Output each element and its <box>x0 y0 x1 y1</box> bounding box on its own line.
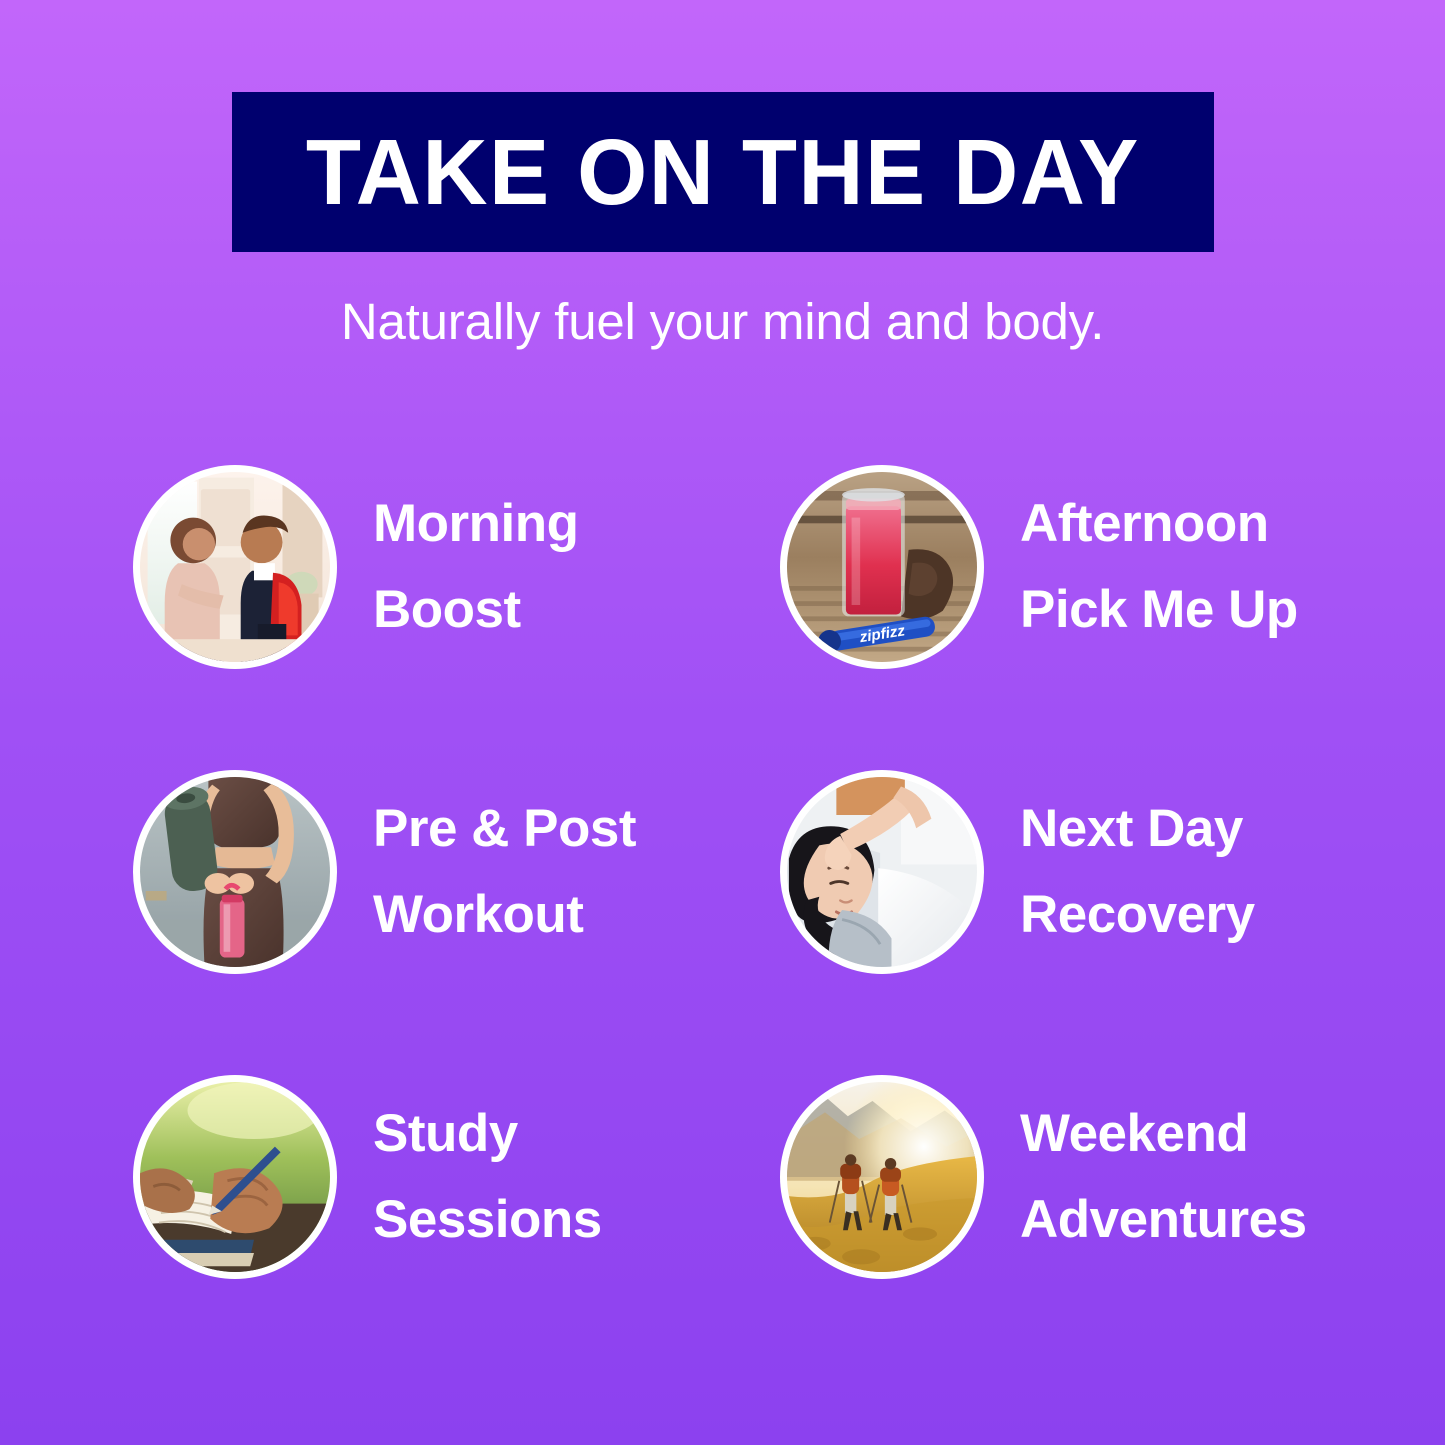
occasion-label: Afternoon Pick Me Up <box>1020 481 1298 653</box>
occasion-thumbnail <box>133 1075 337 1279</box>
pre-post-workout-photo <box>140 777 330 967</box>
occasion-thumbnail <box>133 770 337 974</box>
next-day-recovery-photo <box>787 777 977 967</box>
occasions-row: Pre & Post Workout <box>0 767 1445 1072</box>
occasion-thumbnail <box>133 465 337 669</box>
subtitle: Naturally fuel your mind and body. <box>0 294 1445 350</box>
occasion-item-pre-post-workout[interactable]: Pre & Post Workout <box>0 767 640 977</box>
occasion-thumbnail: zipfizz <box>780 465 984 669</box>
occasion-item-morning-boost[interactable]: Morning Boost <box>0 462 640 672</box>
occasion-thumbnail <box>780 770 984 974</box>
occasion-label: Pre & Post Workout <box>373 786 636 958</box>
afternoon-pick-me-up-photo: zipfizz <box>787 472 977 662</box>
page-title: TAKE ON THE DAY <box>306 126 1140 219</box>
occasions-grid: Morning Boost <box>0 462 1445 1377</box>
occasion-item-study-sessions[interactable]: Study Sessions <box>0 1072 640 1282</box>
occasion-label: Weekend Adventures <box>1020 1091 1307 1263</box>
weekend-adventures-photo <box>787 1082 977 1272</box>
occasions-row: Study Sessions <box>0 1072 1445 1377</box>
occasion-item-afternoon-pick-me-up[interactable]: zipfizz Afternoon Pick Me Up <box>640 462 1445 672</box>
headline-banner: TAKE ON THE DAY <box>232 92 1214 252</box>
occasions-row: Morning Boost <box>0 462 1445 767</box>
study-sessions-photo <box>140 1082 330 1272</box>
occasion-label: Morning Boost <box>373 481 579 653</box>
occasion-label: Next Day Recovery <box>1020 786 1255 958</box>
occasion-item-weekend-adventures[interactable]: Weekend Adventures <box>640 1072 1445 1282</box>
morning-boost-photo <box>140 472 330 662</box>
occasion-label: Study Sessions <box>373 1091 602 1263</box>
occasion-thumbnail <box>780 1075 984 1279</box>
occasion-item-next-day-recovery[interactable]: Next Day Recovery <box>640 767 1445 977</box>
